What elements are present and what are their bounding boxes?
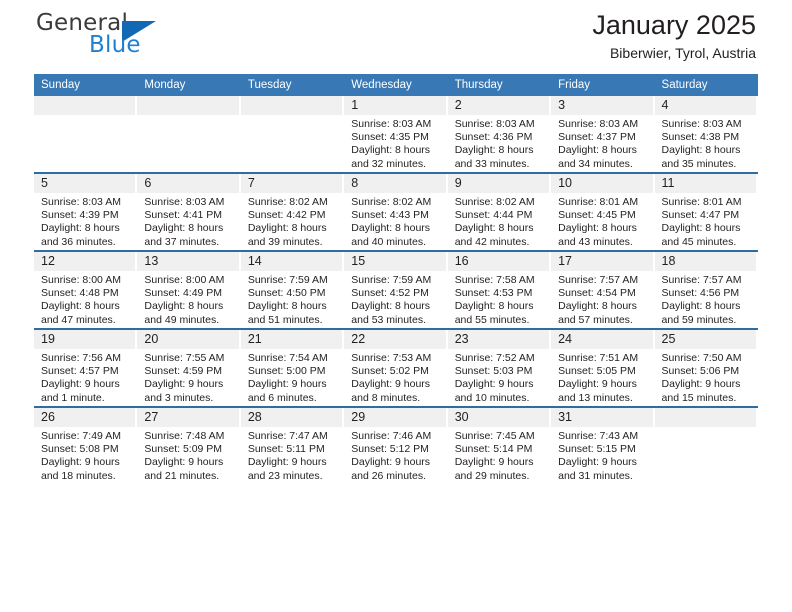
day-details [137, 115, 240, 118]
day-detail-line: Daylight: 9 hours [144, 378, 236, 391]
day-number [34, 96, 135, 115]
day-details [241, 115, 344, 118]
day-detail-line: and 32 minutes. [351, 158, 443, 171]
day-cell-2[interactable]: 2Sunrise: 8:03 AMSunset: 4:36 PMDaylight… [448, 96, 551, 172]
day-number: 13 [137, 252, 238, 271]
day-detail-line: Sunrise: 8:03 AM [455, 118, 547, 131]
day-detail-line: Sunset: 4:59 PM [144, 365, 236, 378]
day-detail-line: Daylight: 8 hours [41, 222, 133, 235]
day-detail-line: and 15 minutes. [662, 392, 754, 405]
day-cell-13[interactable]: 13Sunrise: 8:00 AMSunset: 4:49 PMDayligh… [137, 252, 240, 328]
day-details: Sunrise: 7:50 AMSunset: 5:06 PMDaylight:… [655, 349, 758, 405]
day-details: Sunrise: 7:59 AMSunset: 4:52 PMDaylight:… [344, 271, 447, 327]
day-detail-line: Sunrise: 7:45 AM [455, 430, 547, 443]
day-detail-line: Daylight: 9 hours [351, 378, 443, 391]
calendar-cell: 25Sunrise: 7:50 AMSunset: 5:06 PMDayligh… [655, 329, 758, 407]
day-number: 16 [448, 252, 549, 271]
day-detail-line: and 59 minutes. [662, 314, 754, 327]
day-detail-line: Daylight: 8 hours [558, 300, 650, 313]
day-number: 8 [344, 174, 445, 193]
calendar-cell: 21Sunrise: 7:54 AMSunset: 5:00 PMDayligh… [241, 329, 344, 407]
day-detail-line: and 33 minutes. [455, 158, 547, 171]
day-number: 1 [344, 96, 445, 115]
day-details: Sunrise: 7:59 AMSunset: 4:50 PMDaylight:… [241, 271, 344, 327]
day-cell-24[interactable]: 24Sunrise: 7:51 AMSunset: 5:05 PMDayligh… [551, 330, 654, 406]
day-details [655, 427, 758, 430]
day-number: 4 [655, 96, 756, 115]
day-detail-line: Sunset: 5:00 PM [248, 365, 340, 378]
day-detail-line: and 3 minutes. [144, 392, 236, 405]
calendar-cell: 4Sunrise: 8:03 AMSunset: 4:38 PMDaylight… [655, 96, 758, 173]
day-detail-line: and 55 minutes. [455, 314, 547, 327]
day-detail-line: Sunset: 5:06 PM [662, 365, 754, 378]
day-detail-line: Daylight: 8 hours [662, 300, 754, 313]
day-details: Sunrise: 7:51 AMSunset: 5:05 PMDaylight:… [551, 349, 654, 405]
day-details: Sunrise: 7:45 AMSunset: 5:14 PMDaylight:… [448, 427, 551, 483]
day-detail-line: Sunrise: 7:52 AM [455, 352, 547, 365]
day-number: 11 [655, 174, 756, 193]
day-detail-line: Sunset: 4:47 PM [662, 209, 754, 222]
calendar-cell: 6Sunrise: 8:03 AMSunset: 4:41 PMDaylight… [137, 173, 240, 251]
day-detail-line: Daylight: 9 hours [41, 378, 133, 391]
day-detail-line: Sunset: 4:54 PM [558, 287, 650, 300]
day-detail-line: Sunset: 4:37 PM [558, 131, 650, 144]
day-detail-line: Sunrise: 7:59 AM [248, 274, 340, 287]
day-cell-30[interactable]: 30Sunrise: 7:45 AMSunset: 5:14 PMDayligh… [448, 408, 551, 484]
day-detail-line: Sunset: 5:15 PM [558, 443, 650, 456]
day-details: Sunrise: 7:54 AMSunset: 5:00 PMDaylight:… [241, 349, 344, 405]
day-detail-line: Sunset: 5:11 PM [248, 443, 340, 456]
day-detail-line: Sunrise: 8:00 AM [41, 274, 133, 287]
day-detail-line: Daylight: 8 hours [455, 300, 547, 313]
day-detail-line: Sunset: 5:14 PM [455, 443, 547, 456]
day-details: Sunrise: 8:03 AMSunset: 4:35 PMDaylight:… [344, 115, 447, 171]
day-number: 10 [551, 174, 652, 193]
day-cell-22[interactable]: 22Sunrise: 7:53 AMSunset: 5:02 PMDayligh… [344, 330, 447, 406]
day-detail-line: Daylight: 8 hours [662, 222, 754, 235]
day-details: Sunrise: 8:02 AMSunset: 4:43 PMDaylight:… [344, 193, 447, 249]
calendar-cell [241, 96, 344, 173]
day-detail-line: Daylight: 9 hours [248, 456, 340, 469]
day-detail-line: Sunset: 4:38 PM [662, 131, 754, 144]
day-detail-line: Sunset: 5:05 PM [558, 365, 650, 378]
day-detail-line: Sunrise: 8:00 AM [144, 274, 236, 287]
day-detail-line: Sunrise: 7:50 AM [662, 352, 754, 365]
day-detail-line: Sunrise: 7:48 AM [144, 430, 236, 443]
calendar-cell: 12Sunrise: 8:00 AMSunset: 4:48 PMDayligh… [34, 251, 137, 329]
day-detail-line: Sunrise: 8:03 AM [144, 196, 236, 209]
weekday-header-tuesday: Tuesday [241, 74, 344, 96]
calendar-cell: 11Sunrise: 8:01 AMSunset: 4:47 PMDayligh… [655, 173, 758, 251]
day-number: 14 [241, 252, 342, 271]
day-cell-27[interactable]: 27Sunrise: 7:48 AMSunset: 5:09 PMDayligh… [137, 408, 240, 484]
day-detail-line: Sunset: 4:43 PM [351, 209, 443, 222]
page-title: January 2025 [592, 8, 756, 42]
day-cell-12[interactable]: 12Sunrise: 8:00 AMSunset: 4:48 PMDayligh… [34, 252, 137, 328]
day-detail-line: Daylight: 8 hours [662, 144, 754, 157]
day-details: Sunrise: 7:56 AMSunset: 4:57 PMDaylight:… [34, 349, 137, 405]
day-detail-line: and 21 minutes. [144, 470, 236, 483]
day-detail-line: Sunrise: 7:43 AM [558, 430, 650, 443]
title-block: January 2025 Biberwier, Tyrol, Austria [592, 8, 756, 64]
day-number: 31 [551, 408, 652, 427]
day-cell-empty [655, 408, 758, 484]
day-detail-line: and 29 minutes. [455, 470, 547, 483]
day-detail-line: Sunset: 4:56 PM [662, 287, 754, 300]
day-detail-line: and 1 minute. [41, 392, 133, 405]
weekday-header-friday: Friday [551, 74, 654, 96]
day-detail-line: Sunrise: 7:53 AM [351, 352, 443, 365]
day-detail-line: Sunrise: 8:03 AM [662, 118, 754, 131]
calendar-week-row: 5Sunrise: 8:03 AMSunset: 4:39 PMDaylight… [34, 173, 758, 251]
day-detail-line: Daylight: 8 hours [351, 300, 443, 313]
day-detail-line: Sunrise: 8:02 AM [455, 196, 547, 209]
weekday-header-wednesday: Wednesday [344, 74, 447, 96]
day-detail-line: Sunset: 5:08 PM [41, 443, 133, 456]
calendar-page: General Blue January 2025 Biberwier, Tyr… [0, 0, 792, 612]
day-detail-line: Sunset: 4:45 PM [558, 209, 650, 222]
day-cell-empty [34, 96, 137, 172]
day-detail-line: Daylight: 9 hours [558, 456, 650, 469]
day-number: 21 [241, 330, 342, 349]
day-details: Sunrise: 8:00 AMSunset: 4:49 PMDaylight:… [137, 271, 240, 327]
day-detail-line: Daylight: 9 hours [144, 456, 236, 469]
day-details: Sunrise: 8:03 AMSunset: 4:39 PMDaylight:… [34, 193, 137, 249]
day-details: Sunrise: 8:00 AMSunset: 4:48 PMDaylight:… [34, 271, 137, 327]
day-cell-21[interactable]: 21Sunrise: 7:54 AMSunset: 5:00 PMDayligh… [241, 330, 344, 406]
calendar-week-row: 1Sunrise: 8:03 AMSunset: 4:35 PMDaylight… [34, 96, 758, 173]
day-number: 30 [448, 408, 549, 427]
calendar-cell: 29Sunrise: 7:46 AMSunset: 5:12 PMDayligh… [344, 407, 447, 484]
day-details: Sunrise: 7:58 AMSunset: 4:53 PMDaylight:… [448, 271, 551, 327]
day-details: Sunrise: 7:55 AMSunset: 4:59 PMDaylight:… [137, 349, 240, 405]
day-detail-line: Daylight: 9 hours [41, 456, 133, 469]
day-details: Sunrise: 8:02 AMSunset: 4:44 PMDaylight:… [448, 193, 551, 249]
calendar-cell: 1Sunrise: 8:03 AMSunset: 4:35 PMDaylight… [344, 96, 447, 173]
calendar-cell: 23Sunrise: 7:52 AMSunset: 5:03 PMDayligh… [448, 329, 551, 407]
calendar-cell: 14Sunrise: 7:59 AMSunset: 4:50 PMDayligh… [241, 251, 344, 329]
day-detail-line: and 39 minutes. [248, 236, 340, 249]
day-detail-line: Sunset: 4:49 PM [144, 287, 236, 300]
calendar-cell: 16Sunrise: 7:58 AMSunset: 4:53 PMDayligh… [448, 251, 551, 329]
day-detail-line: Sunrise: 7:46 AM [351, 430, 443, 443]
calendar-cell [34, 96, 137, 173]
day-number: 3 [551, 96, 652, 115]
day-detail-line: Sunrise: 8:03 AM [558, 118, 650, 131]
day-cell-empty [241, 96, 344, 172]
day-number: 9 [448, 174, 549, 193]
calendar-body: 1Sunrise: 8:03 AMSunset: 4:35 PMDaylight… [34, 96, 758, 484]
day-detail-line: Sunrise: 8:01 AM [662, 196, 754, 209]
weekday-header-sunday: Sunday [34, 74, 137, 96]
day-detail-line: Sunset: 4:44 PM [455, 209, 547, 222]
day-number: 27 [137, 408, 238, 427]
day-number: 22 [344, 330, 445, 349]
day-cell-25[interactable]: 25Sunrise: 7:50 AMSunset: 5:06 PMDayligh… [655, 330, 758, 406]
day-cell-9[interactable]: 9Sunrise: 8:02 AMSunset: 4:44 PMDaylight… [448, 174, 551, 250]
day-number: 29 [344, 408, 445, 427]
day-details [34, 115, 137, 118]
day-detail-line: and 35 minutes. [662, 158, 754, 171]
day-cell-10[interactable]: 10Sunrise: 8:01 AMSunset: 4:45 PMDayligh… [551, 174, 654, 250]
calendar-cell: 13Sunrise: 8:00 AMSunset: 4:49 PMDayligh… [137, 251, 240, 329]
day-details: Sunrise: 7:57 AMSunset: 4:56 PMDaylight:… [655, 271, 758, 327]
day-cell-26[interactable]: 26Sunrise: 7:49 AMSunset: 5:08 PMDayligh… [34, 408, 137, 484]
day-detail-line: and 57 minutes. [558, 314, 650, 327]
calendar-cell: 3Sunrise: 8:03 AMSunset: 4:37 PMDaylight… [551, 96, 654, 173]
calendar-week-row: 26Sunrise: 7:49 AMSunset: 5:08 PMDayligh… [34, 407, 758, 484]
day-number [655, 408, 756, 427]
calendar-cell: 10Sunrise: 8:01 AMSunset: 4:45 PMDayligh… [551, 173, 654, 251]
day-detail-line: Sunset: 4:42 PM [248, 209, 340, 222]
day-detail-line: Sunrise: 8:02 AM [351, 196, 443, 209]
day-detail-line: and 8 minutes. [351, 392, 443, 405]
day-number: 19 [34, 330, 135, 349]
day-details: Sunrise: 8:02 AMSunset: 4:42 PMDaylight:… [241, 193, 344, 249]
day-detail-line: and 42 minutes. [455, 236, 547, 249]
day-detail-line: and 36 minutes. [41, 236, 133, 249]
day-details: Sunrise: 8:01 AMSunset: 4:47 PMDaylight:… [655, 193, 758, 249]
day-number: 25 [655, 330, 756, 349]
day-details: Sunrise: 8:01 AMSunset: 4:45 PMDaylight:… [551, 193, 654, 249]
calendar-cell: 27Sunrise: 7:48 AMSunset: 5:09 PMDayligh… [137, 407, 240, 484]
day-detail-line: and 31 minutes. [558, 470, 650, 483]
day-cell-29[interactable]: 29Sunrise: 7:46 AMSunset: 5:12 PMDayligh… [344, 408, 447, 484]
day-detail-line: Sunset: 4:50 PM [248, 287, 340, 300]
day-details: Sunrise: 7:46 AMSunset: 5:12 PMDaylight:… [344, 427, 447, 483]
weekday-header-monday: Monday [137, 74, 240, 96]
calendar-cell: 22Sunrise: 7:53 AMSunset: 5:02 PMDayligh… [344, 329, 447, 407]
calendar-cell: 9Sunrise: 8:02 AMSunset: 4:44 PMDaylight… [448, 173, 551, 251]
day-number: 2 [448, 96, 549, 115]
day-cell-7[interactable]: 7Sunrise: 8:02 AMSunset: 4:42 PMDaylight… [241, 174, 344, 250]
weekday-header-thursday: Thursday [448, 74, 551, 96]
day-detail-line: Sunrise: 7:54 AM [248, 352, 340, 365]
day-detail-line: Sunset: 5:03 PM [455, 365, 547, 378]
calendar-cell: 30Sunrise: 7:45 AMSunset: 5:14 PMDayligh… [448, 407, 551, 484]
day-detail-line: Sunrise: 7:57 AM [662, 274, 754, 287]
day-details: Sunrise: 7:53 AMSunset: 5:02 PMDaylight:… [344, 349, 447, 405]
day-detail-line: Daylight: 8 hours [144, 300, 236, 313]
day-detail-line: and 45 minutes. [662, 236, 754, 249]
day-cell-16[interactable]: 16Sunrise: 7:58 AMSunset: 4:53 PMDayligh… [448, 252, 551, 328]
weekday-header-row: SundayMondayTuesdayWednesdayThursdayFrid… [34, 74, 758, 96]
day-number: 17 [551, 252, 652, 271]
day-detail-line: Daylight: 8 hours [558, 144, 650, 157]
day-detail-line: and 49 minutes. [144, 314, 236, 327]
day-detail-line: and 23 minutes. [248, 470, 340, 483]
day-detail-line: Daylight: 8 hours [41, 300, 133, 313]
day-number: 28 [241, 408, 342, 427]
day-details: Sunrise: 7:52 AMSunset: 5:03 PMDaylight:… [448, 349, 551, 405]
day-cell-11[interactable]: 11Sunrise: 8:01 AMSunset: 4:47 PMDayligh… [655, 174, 758, 250]
calendar-cell: 31Sunrise: 7:43 AMSunset: 5:15 PMDayligh… [551, 407, 654, 484]
day-cell-14[interactable]: 14Sunrise: 7:59 AMSunset: 4:50 PMDayligh… [241, 252, 344, 328]
day-number: 26 [34, 408, 135, 427]
calendar-cell: 18Sunrise: 7:57 AMSunset: 4:56 PMDayligh… [655, 251, 758, 329]
day-detail-line: Daylight: 9 hours [248, 378, 340, 391]
day-detail-line: Daylight: 8 hours [248, 222, 340, 235]
calendar-cell: 19Sunrise: 7:56 AMSunset: 4:57 PMDayligh… [34, 329, 137, 407]
day-detail-line: Sunrise: 7:51 AM [558, 352, 650, 365]
day-detail-line: Sunset: 4:41 PM [144, 209, 236, 222]
day-detail-line: Sunset: 4:52 PM [351, 287, 443, 300]
day-detail-line: Sunrise: 8:03 AM [351, 118, 443, 131]
day-detail-line: Sunset: 4:35 PM [351, 131, 443, 144]
day-details: Sunrise: 8:03 AMSunset: 4:41 PMDaylight:… [137, 193, 240, 249]
day-cell-15[interactable]: 15Sunrise: 7:59 AMSunset: 4:52 PMDayligh… [344, 252, 447, 328]
day-details: Sunrise: 8:03 AMSunset: 4:36 PMDaylight:… [448, 115, 551, 171]
calendar-cell: 8Sunrise: 8:02 AMSunset: 4:43 PMDaylight… [344, 173, 447, 251]
day-detail-line: and 34 minutes. [558, 158, 650, 171]
calendar-cell: 20Sunrise: 7:55 AMSunset: 4:59 PMDayligh… [137, 329, 240, 407]
day-detail-line: Sunrise: 7:58 AM [455, 274, 547, 287]
day-detail-line: and 51 minutes. [248, 314, 340, 327]
day-cell-20[interactable]: 20Sunrise: 7:55 AMSunset: 4:59 PMDayligh… [137, 330, 240, 406]
page-subtitle: Biberwier, Tyrol, Austria [592, 42, 756, 64]
day-number: 18 [655, 252, 756, 271]
day-cell-28[interactable]: 28Sunrise: 7:47 AMSunset: 5:11 PMDayligh… [241, 408, 344, 484]
day-detail-line: and 37 minutes. [144, 236, 236, 249]
calendar-cell: 5Sunrise: 8:03 AMSunset: 4:39 PMDaylight… [34, 173, 137, 251]
calendar-table: SundayMondayTuesdayWednesdayThursdayFrid… [34, 74, 758, 484]
day-cell-empty [137, 96, 240, 172]
day-detail-line: Sunrise: 7:49 AM [41, 430, 133, 443]
day-detail-line: and 40 minutes. [351, 236, 443, 249]
day-detail-line: Sunset: 4:36 PM [455, 131, 547, 144]
day-detail-line: Sunrise: 8:01 AM [558, 196, 650, 209]
day-detail-line: Daylight: 8 hours [248, 300, 340, 313]
day-detail-line: Sunset: 5:02 PM [351, 365, 443, 378]
day-detail-line: and 10 minutes. [455, 392, 547, 405]
day-detail-line: Sunset: 4:53 PM [455, 287, 547, 300]
day-detail-line: and 6 minutes. [248, 392, 340, 405]
weekday-header-saturday: Saturday [655, 74, 758, 96]
day-detail-line: Daylight: 9 hours [662, 378, 754, 391]
day-number: 6 [137, 174, 238, 193]
day-details: Sunrise: 8:03 AMSunset: 4:38 PMDaylight:… [655, 115, 758, 171]
day-detail-line: and 47 minutes. [41, 314, 133, 327]
day-detail-line: and 13 minutes. [558, 392, 650, 405]
day-number: 7 [241, 174, 342, 193]
day-detail-line: and 18 minutes. [41, 470, 133, 483]
day-detail-line: Sunrise: 7:56 AM [41, 352, 133, 365]
day-cell-6[interactable]: 6Sunrise: 8:03 AMSunset: 4:41 PMDaylight… [137, 174, 240, 250]
day-number [241, 96, 342, 115]
day-cell-19[interactable]: 19Sunrise: 7:56 AMSunset: 4:57 PMDayligh… [34, 330, 137, 406]
day-number [137, 96, 238, 115]
day-number: 20 [137, 330, 238, 349]
calendar-cell: 15Sunrise: 7:59 AMSunset: 4:52 PMDayligh… [344, 251, 447, 329]
day-cell-18[interactable]: 18Sunrise: 7:57 AMSunset: 4:56 PMDayligh… [655, 252, 758, 328]
day-detail-line: Sunset: 5:09 PM [144, 443, 236, 456]
day-details: Sunrise: 7:43 AMSunset: 5:15 PMDaylight:… [551, 427, 654, 483]
day-details: Sunrise: 8:03 AMSunset: 4:37 PMDaylight:… [551, 115, 654, 171]
day-detail-line: Daylight: 8 hours [351, 222, 443, 235]
logo-text-blue: Blue [89, 32, 141, 58]
day-details: Sunrise: 7:49 AMSunset: 5:08 PMDaylight:… [34, 427, 137, 483]
day-detail-line: Sunrise: 8:02 AM [248, 196, 340, 209]
day-cell-8[interactable]: 8Sunrise: 8:02 AMSunset: 4:43 PMDaylight… [344, 174, 447, 250]
day-detail-line: Sunset: 5:12 PM [351, 443, 443, 456]
page-header: General Blue January 2025 Biberwier, Tyr… [34, 0, 758, 74]
day-detail-line: Daylight: 9 hours [455, 378, 547, 391]
day-detail-line: Daylight: 8 hours [455, 144, 547, 157]
day-detail-line: Sunrise: 7:55 AM [144, 352, 236, 365]
day-detail-line: Daylight: 8 hours [144, 222, 236, 235]
day-details: Sunrise: 7:47 AMSunset: 5:11 PMDaylight:… [241, 427, 344, 483]
day-detail-line: and 26 minutes. [351, 470, 443, 483]
calendar-cell: 26Sunrise: 7:49 AMSunset: 5:08 PMDayligh… [34, 407, 137, 484]
day-detail-line: Daylight: 8 hours [351, 144, 443, 157]
day-cell-31[interactable]: 31Sunrise: 7:43 AMSunset: 5:15 PMDayligh… [551, 408, 654, 484]
calendar-cell [655, 407, 758, 484]
day-detail-line: Sunset: 4:48 PM [41, 287, 133, 300]
day-detail-line: Sunset: 4:57 PM [41, 365, 133, 378]
calendar-week-row: 19Sunrise: 7:56 AMSunset: 4:57 PMDayligh… [34, 329, 758, 407]
day-detail-line: Sunrise: 7:57 AM [558, 274, 650, 287]
day-details: Sunrise: 7:57 AMSunset: 4:54 PMDaylight:… [551, 271, 654, 327]
day-detail-line: Sunrise: 7:47 AM [248, 430, 340, 443]
day-detail-line: Daylight: 8 hours [455, 222, 547, 235]
day-details: Sunrise: 7:48 AMSunset: 5:09 PMDaylight:… [137, 427, 240, 483]
day-number: 23 [448, 330, 549, 349]
day-number: 15 [344, 252, 445, 271]
day-detail-line: Sunrise: 8:03 AM [41, 196, 133, 209]
day-detail-line: Daylight: 8 hours [558, 222, 650, 235]
day-cell-4[interactable]: 4Sunrise: 8:03 AMSunset: 4:38 PMDaylight… [655, 96, 758, 172]
day-detail-line: Daylight: 9 hours [351, 456, 443, 469]
day-cell-3[interactable]: 3Sunrise: 8:03 AMSunset: 4:37 PMDaylight… [551, 96, 654, 172]
day-cell-1[interactable]: 1Sunrise: 8:03 AMSunset: 4:35 PMDaylight… [344, 96, 447, 172]
day-number: 24 [551, 330, 652, 349]
calendar-cell: 17Sunrise: 7:57 AMSunset: 4:54 PMDayligh… [551, 251, 654, 329]
calendar-cell: 24Sunrise: 7:51 AMSunset: 5:05 PMDayligh… [551, 329, 654, 407]
general-blue-logo[interactable]: General Blue [36, 10, 236, 64]
day-number: 5 [34, 174, 135, 193]
calendar-week-row: 12Sunrise: 8:00 AMSunset: 4:48 PMDayligh… [34, 251, 758, 329]
day-detail-line: Daylight: 9 hours [558, 378, 650, 391]
day-detail-line: Daylight: 9 hours [455, 456, 547, 469]
day-cell-17[interactable]: 17Sunrise: 7:57 AMSunset: 4:54 PMDayligh… [551, 252, 654, 328]
day-detail-line: and 43 minutes. [558, 236, 650, 249]
calendar-cell: 28Sunrise: 7:47 AMSunset: 5:11 PMDayligh… [241, 407, 344, 484]
calendar-cell: 7Sunrise: 8:02 AMSunset: 4:42 PMDaylight… [241, 173, 344, 251]
day-detail-line: and 53 minutes. [351, 314, 443, 327]
calendar-cell [137, 96, 240, 173]
day-cell-5[interactable]: 5Sunrise: 8:03 AMSunset: 4:39 PMDaylight… [34, 174, 137, 250]
day-detail-line: Sunrise: 7:59 AM [351, 274, 443, 287]
day-cell-23[interactable]: 23Sunrise: 7:52 AMSunset: 5:03 PMDayligh… [448, 330, 551, 406]
day-detail-line: Sunset: 4:39 PM [41, 209, 133, 222]
day-number: 12 [34, 252, 135, 271]
calendar-cell: 2Sunrise: 8:03 AMSunset: 4:36 PMDaylight… [448, 96, 551, 173]
